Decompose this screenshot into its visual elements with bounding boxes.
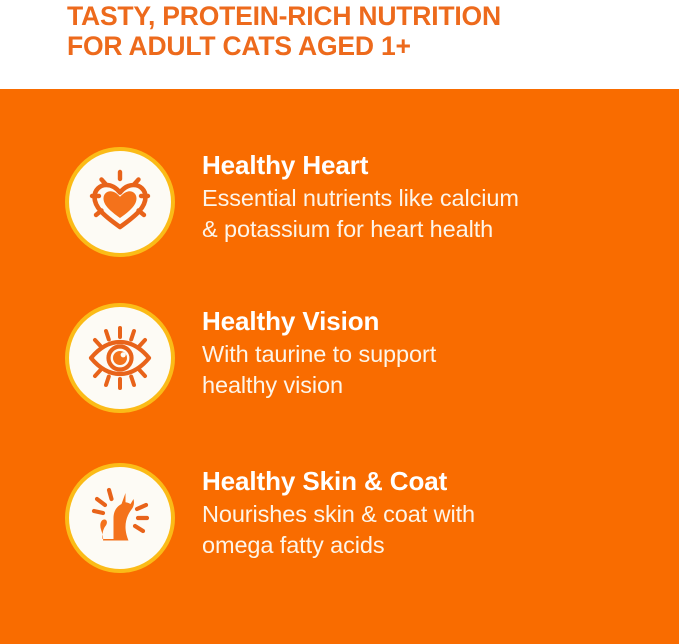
feature-heading: Healthy Skin & Coat [202,465,475,498]
heart-rays-icon [81,163,159,241]
feature-item-healthy-vision: Healthy Vision With taurine to support h… [0,303,679,413]
feature-body: Nourishes skin & coat with omega fatty a… [202,499,475,561]
feature-text: Healthy Skin & Coat Nourishes skin & coa… [202,463,475,561]
page-title: TASTY, PROTEIN-RICH NUTRITION FOR ADULT … [67,1,679,61]
icon-badge [65,463,175,573]
feature-text: Healthy Heart Essential nutrients like c… [202,147,519,245]
feature-body: With taurine to support healthy vision [202,339,436,401]
icon-badge [65,147,175,257]
icon-disc [69,151,171,253]
eye-rays-icon [81,319,159,397]
feature-item-healthy-heart: Healthy Heart Essential nutrients like c… [0,147,679,257]
cat-rays-icon [81,479,159,557]
icon-disc [69,307,171,409]
feature-heading: Healthy Heart [202,149,519,182]
header: TASTY, PROTEIN-RICH NUTRITION FOR ADULT … [0,0,679,89]
feature-body: Essential nutrients like calcium & potas… [202,183,519,245]
feature-heading: Healthy Vision [202,305,436,338]
icon-badge [65,303,175,413]
feature-text: Healthy Vision With taurine to support h… [202,303,436,401]
feature-item-healthy-skin-and-coat: Healthy Skin & Coat Nourishes skin & coa… [0,463,679,573]
features-panel: Healthy Heart Essential nutrients like c… [0,89,679,644]
icon-disc [69,467,171,569]
promo-panel: TASTY, PROTEIN-RICH NUTRITION FOR ADULT … [0,0,679,644]
